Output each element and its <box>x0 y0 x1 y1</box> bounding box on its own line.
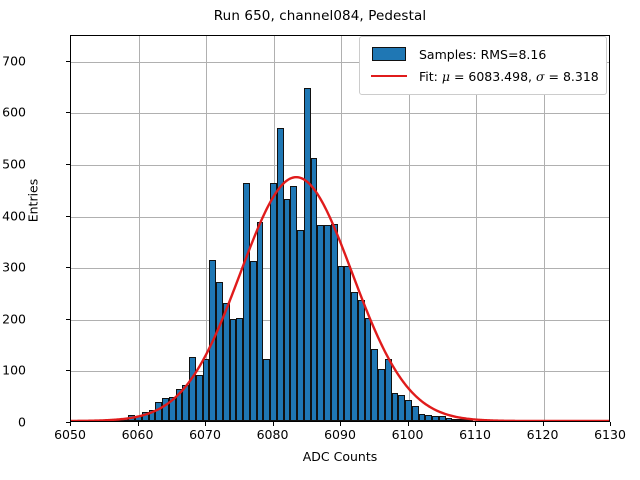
x-tick-mark <box>543 422 544 426</box>
page-title: Run 650, channel084, Pedestal <box>0 8 640 24</box>
y-tick-label: 700 <box>0 53 26 68</box>
x-tick-label: 6100 <box>392 427 424 442</box>
x-axis-label: ADC Counts <box>70 449 610 464</box>
x-tick-label: 6110 <box>459 427 491 442</box>
chart-legend: Samples: RMS=8.16 Fit: μ = 6083.498, σ =… <box>359 36 607 95</box>
mu-symbol: μ <box>442 69 450 84</box>
legend-line-icon <box>369 69 409 83</box>
y-tick-label: 0 <box>0 415 26 430</box>
x-tick-mark <box>273 422 274 426</box>
x-tick-label: 6050 <box>54 427 86 442</box>
x-tick-label: 6070 <box>189 427 221 442</box>
legend-item-fit: Fit: μ = 6083.498, σ = 8.318 <box>369 65 597 87</box>
legend-patch-icon <box>369 47 409 61</box>
legend-label-fit: Fit: μ = 6083.498, σ = 8.318 <box>419 69 599 84</box>
x-tick-mark <box>610 422 611 426</box>
legend-fit-prefix: Fit: <box>419 69 442 84</box>
mu-value: = 6083.498, <box>450 69 536 84</box>
y-tick-label: 500 <box>0 157 26 172</box>
y-tick-label: 400 <box>0 208 26 223</box>
sigma-value: = 8.318 <box>545 69 599 84</box>
x-tick-label: 6090 <box>324 427 356 442</box>
y-tick-label: 200 <box>0 311 26 326</box>
legend-label-samples: Samples: RMS=8.16 <box>419 47 546 62</box>
x-tick-mark <box>70 422 71 426</box>
x-tick-mark <box>408 422 409 426</box>
x-tick-mark <box>138 422 139 426</box>
x-tick-label: 6080 <box>257 427 289 442</box>
x-tick-label: 6120 <box>527 427 559 442</box>
legend-item-samples: Samples: RMS=8.16 <box>369 43 597 65</box>
x-tick-mark <box>475 422 476 426</box>
y-tick-label: 600 <box>0 105 26 120</box>
matplotlib-figure: Run 650, channel084, Pedestal Entries AD… <box>0 0 640 480</box>
y-axis-label: Entries <box>26 121 41 281</box>
y-tick-label: 300 <box>0 260 26 275</box>
sigma-symbol: σ <box>536 69 545 84</box>
x-tick-mark <box>340 422 341 426</box>
x-tick-label: 6060 <box>122 427 154 442</box>
x-tick-mark <box>205 422 206 426</box>
x-tick-label: 6130 <box>594 427 626 442</box>
y-tick-label: 100 <box>0 363 26 378</box>
